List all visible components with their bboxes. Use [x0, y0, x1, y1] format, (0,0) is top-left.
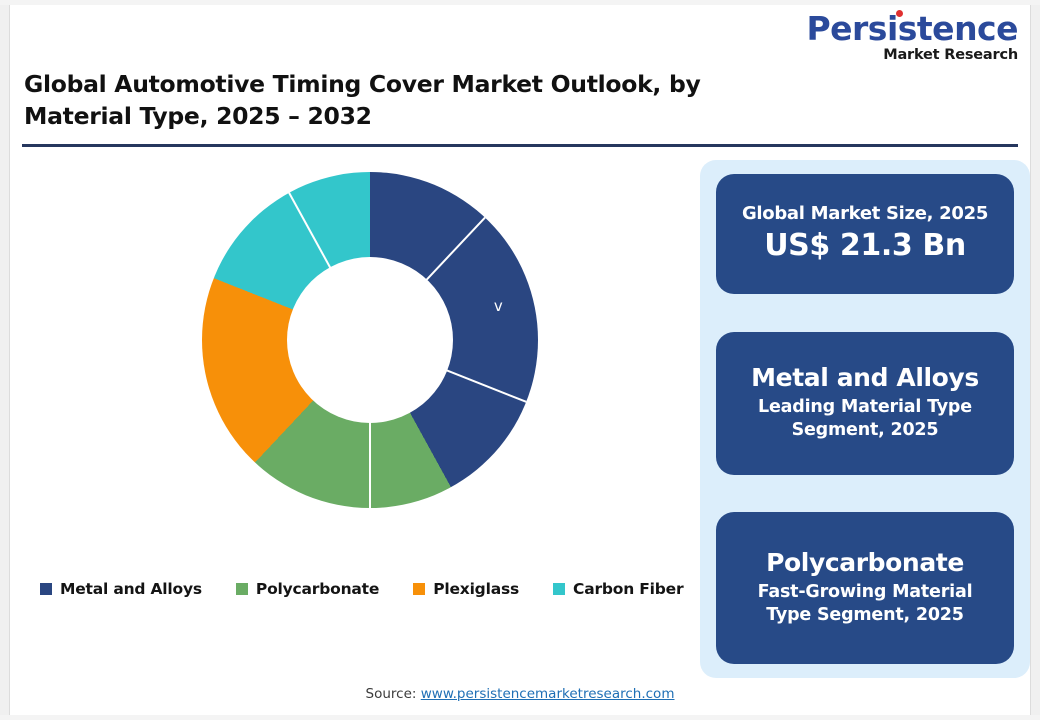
legend-label: Carbon Fiber — [573, 580, 683, 598]
source-prefix: Source: — [366, 686, 421, 702]
legend-swatch-icon — [236, 583, 248, 595]
brand-logo-name: Persistence — [806, 12, 1018, 45]
legend-swatch-icon — [40, 583, 52, 595]
source-link[interactable]: www.persistencemarketresearch.com — [421, 686, 675, 702]
chart-area: v — [18, 158, 690, 568]
chart-legend: Metal and AlloysPolycarbonatePlexiglassC… — [40, 580, 683, 598]
page-title: Global Automotive Timing Cover Market Ou… — [24, 68, 784, 133]
donut-slice-divider — [369, 340, 371, 508]
legend-item-plexiglass[interactable]: Plexiglass — [413, 580, 519, 598]
legend-label: Plexiglass — [433, 580, 519, 598]
market-size-value: US$ 21.3 Bn — [764, 228, 966, 265]
legend-label: Polycarbonate — [256, 580, 379, 598]
donut-slice-label: v — [494, 297, 503, 315]
page-edge-left — [0, 0, 10, 720]
legend-item-polycarbonate[interactable]: Polycarbonate — [236, 580, 379, 598]
fastest-growing-segment-name: Polycarbonate — [766, 548, 964, 579]
legend-item-carbon-fiber[interactable]: Carbon Fiber — [553, 580, 683, 598]
stat-card-leading-segment[interactable]: Metal and Alloys Leading Material Type S… — [716, 332, 1014, 475]
page-edge-right — [1030, 0, 1040, 720]
stat-card-fastest-growing-segment[interactable]: Polycarbonate Fast-Growing Material Type… — [716, 512, 1014, 664]
fastest-growing-caption-line1: Fast-Growing Material — [758, 581, 973, 605]
leading-segment-name: Metal and Alloys — [751, 363, 979, 394]
source-line: Source: www.persistencemarketresearch.co… — [0, 686, 1040, 702]
infographic-page: Persistence Market Research Global Autom… — [0, 0, 1040, 720]
stat-card-market-size[interactable]: Global Market Size, 2025 US$ 21.3 Bn — [716, 174, 1014, 294]
highlights-panel: Global Market Size, 2025 US$ 21.3 Bn Met… — [700, 160, 1030, 678]
leading-segment-caption-line1: Leading Material Type — [758, 396, 972, 420]
page-edge-top — [0, 0, 1040, 5]
brand-logo-tagline: Market Research — [806, 48, 1018, 63]
legend-item-metal-and-alloys[interactable]: Metal and Alloys — [40, 580, 202, 598]
donut-chart: v — [202, 172, 538, 508]
fastest-growing-caption-line2: Type Segment, 2025 — [766, 604, 964, 628]
legend-swatch-icon — [553, 583, 565, 595]
legend-label: Metal and Alloys — [60, 580, 202, 598]
market-size-label: Global Market Size, 2025 — [742, 203, 988, 226]
leading-segment-caption-line2: Segment, 2025 — [792, 419, 939, 443]
donut-ring[interactable] — [202, 172, 538, 508]
legend-swatch-icon — [413, 583, 425, 595]
title-divider — [22, 144, 1018, 147]
brand-logo: Persistence Market Research — [806, 12, 1018, 63]
page-edge-bottom — [0, 715, 1040, 720]
